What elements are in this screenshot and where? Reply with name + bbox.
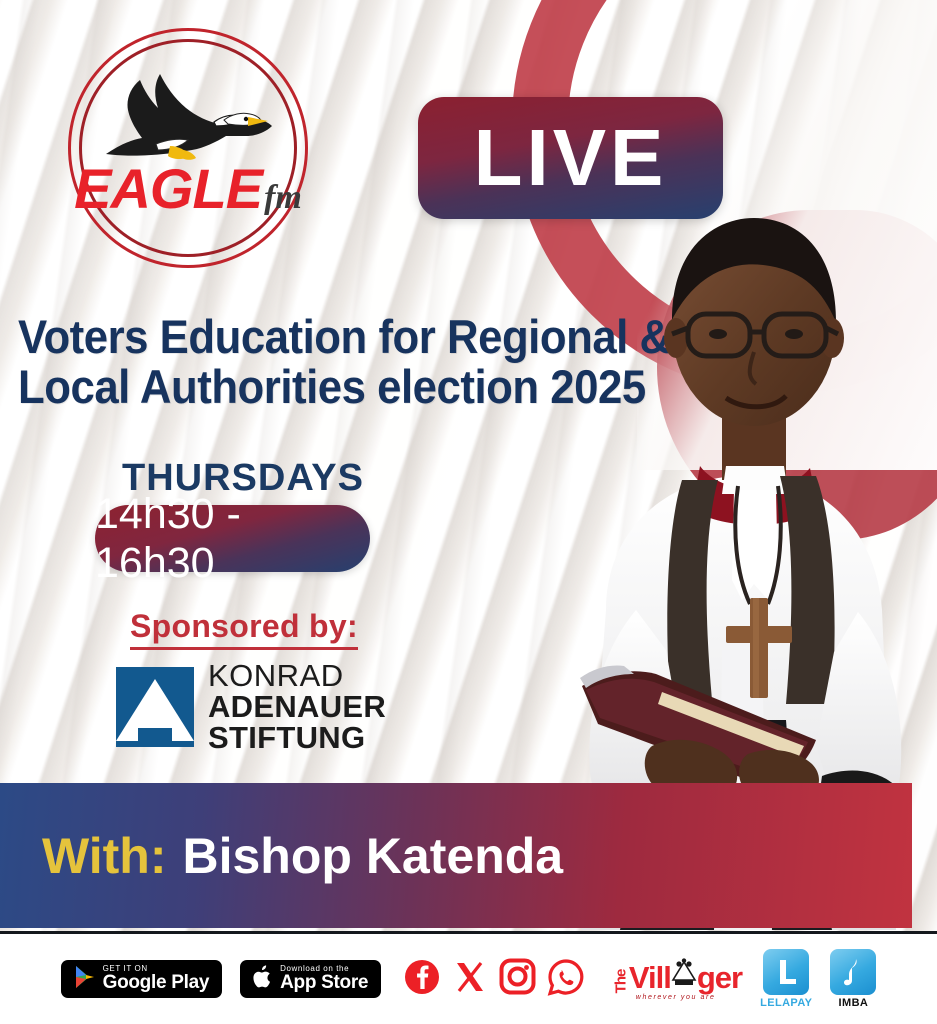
schedule-time-pill: 14h30 - 16h30 <box>95 505 370 572</box>
facebook-icon[interactable] <box>403 958 441 1001</box>
sponsor-logo-line2: ADENAUER <box>208 691 386 722</box>
villager-word2: ger <box>697 962 742 993</box>
sponsor-logo-line1: KONRAD <box>208 660 386 691</box>
whatsapp-icon[interactable] <box>547 958 585 1001</box>
kas-logo-mark-icon <box>116 667 194 747</box>
host-name: Bishop Katenda <box>183 827 564 885</box>
villager-word1: Vill <box>629 962 671 993</box>
villager-logo: The Vill ger wherever you are <box>609 958 742 1001</box>
station-wordmark: EAGLEfm <box>68 156 308 221</box>
station-name-suffix: fm <box>264 179 302 216</box>
app-store-button[interactable]: Download on the App Store <box>240 960 381 998</box>
lelapay-label: LELAPAY <box>760 997 812 1009</box>
app-store-label: App Store <box>280 973 368 993</box>
lelapay-logo: LELAPAY <box>760 949 812 1009</box>
villager-the: The <box>614 969 629 993</box>
apple-icon <box>253 965 273 994</box>
sponsor-logo-line3: STIFTUNG <box>208 722 386 753</box>
imba-label: IMBA <box>830 997 876 1009</box>
footer-bar: GET IT ON Google Play Download on the Ap… <box>0 931 937 1024</box>
villager-tagline: wherever you are <box>609 994 742 1001</box>
imba-logo: IMBA <box>830 949 876 1009</box>
google-play-label: Google Play <box>103 973 210 993</box>
social-links <box>403 958 585 1001</box>
sponsor-label: Sponsored by: <box>130 608 358 650</box>
hut-icon <box>671 958 697 993</box>
letter-l-icon <box>763 949 809 995</box>
music-note-icon <box>830 949 876 995</box>
host-prefix: With: <box>42 827 167 885</box>
x-twitter-icon[interactable] <box>452 959 488 1000</box>
instagram-icon[interactable] <box>499 958 536 1000</box>
station-name-main: EAGLE <box>74 157 262 220</box>
schedule-time-label: 14h30 - 16h30 <box>95 490 370 588</box>
promo-poster: EAGLEfm LIVE Voters Education for Region… <box>0 0 937 1024</box>
host-banner: With: Bishop Katenda <box>0 783 912 928</box>
google-play-icon <box>74 965 96 994</box>
station-logo: EAGLEfm <box>68 28 308 268</box>
sponsor-logo: KONRAD ADENAUER STIFTUNG <box>116 660 386 753</box>
google-play-button[interactable]: GET IT ON Google Play <box>61 960 223 998</box>
